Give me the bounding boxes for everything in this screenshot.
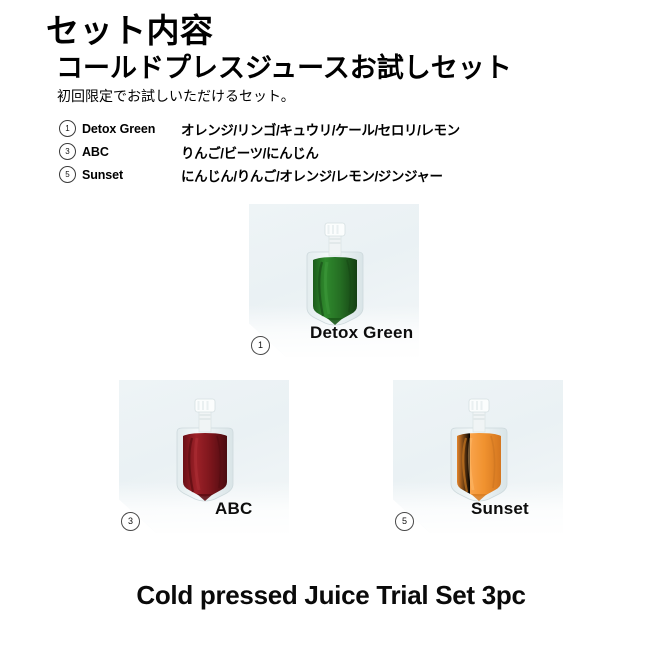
- photo-label-detox-green: Detox Green: [310, 323, 413, 343]
- variant-name: Detox Green: [82, 122, 155, 136]
- list-item: 3 ABC りんご/ビーツ/にんじん: [59, 140, 579, 163]
- variant-number-badge: 5: [59, 166, 76, 183]
- list-item: 5 Sunset にんじん/りんご/オレンジ/レモン/ジンジャー: [59, 163, 579, 186]
- page-subtitle: コールドプレスジュースお試しセット: [56, 54, 512, 84]
- product-photo-abc: ABC: [119, 380, 289, 533]
- page-note: 初回限定でお試しいただけるセット。: [57, 90, 295, 107]
- list-item: 1 Detox Green オレンジ/リンゴ/キュウリ/ケール/セロリ/レモン: [59, 117, 579, 140]
- photo-label-abc: ABC: [215, 499, 252, 519]
- variant-number-badge: 3: [59, 143, 76, 160]
- juice-pouch-green: [289, 222, 381, 334]
- variant-ingredients: オレンジ/リンゴ/キュウリ/ケール/セロリ/レモン: [181, 119, 460, 139]
- juice-pouch-red: [159, 398, 251, 510]
- product-photo-detox-green: Detox Green: [249, 204, 419, 357]
- variant-number-badge: 1: [59, 120, 76, 137]
- page-title: セット内容: [46, 14, 214, 50]
- variant-name: ABC: [82, 145, 109, 159]
- footer-title: Cold pressed Juice Trial Set 3pc: [0, 580, 662, 611]
- photo-label-sunset: Sunset: [471, 499, 529, 519]
- photo-badge-detox-green: 1: [251, 336, 270, 355]
- variant-list: 1 Detox Green オレンジ/リンゴ/キュウリ/ケール/セロリ/レモン …: [59, 117, 579, 186]
- variant-ingredients: にんじん/りんご/オレンジ/レモン/ジンジャー: [181, 165, 443, 185]
- juice-pouch-orange: [433, 398, 525, 510]
- photo-badge-sunset: 5: [395, 512, 414, 531]
- variant-ingredients: りんご/ビーツ/にんじん: [181, 142, 318, 162]
- variant-name: Sunset: [82, 168, 123, 182]
- photo-badge-abc: 3: [121, 512, 140, 531]
- product-photo-sunset: Sunset: [393, 380, 563, 533]
